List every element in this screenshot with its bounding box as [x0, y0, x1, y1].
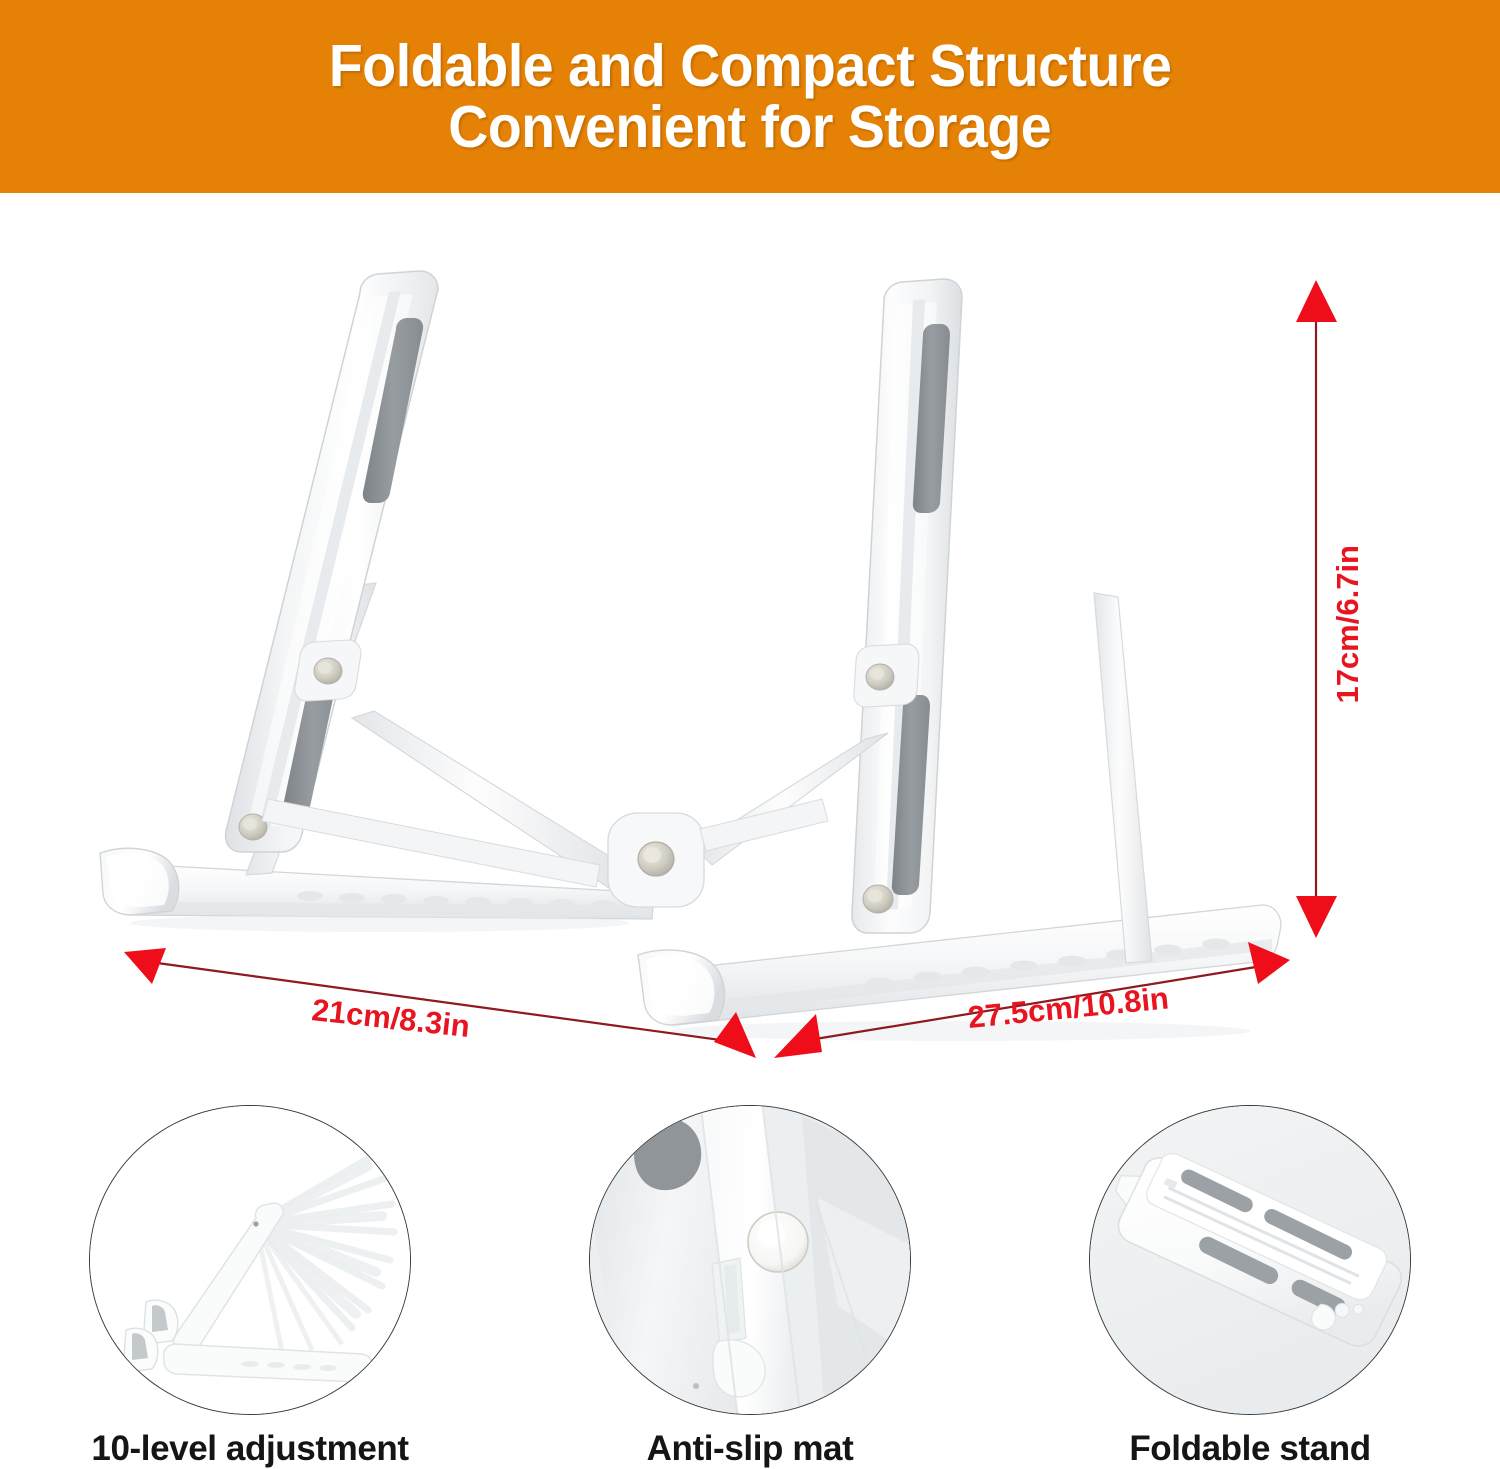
- feature-caption-antislip: Anti-slip mat: [647, 1429, 854, 1469]
- product-hero-image: [0, 193, 1500, 1093]
- banner-title-line-1: Foldable and Compact Structure: [329, 36, 1172, 97]
- right-front-lip: [638, 950, 725, 1025]
- folded-stand-icon: [1089, 1105, 1411, 1415]
- feature-item-foldable: Foldable stand: [1000, 1105, 1500, 1469]
- right-base-rail: [648, 905, 1281, 1025]
- left-front-lip: [100, 848, 179, 915]
- feature-item-antislip: Anti-slip mat: [500, 1105, 1000, 1469]
- feature-caption-foldable: Foldable stand: [1129, 1429, 1370, 1469]
- right-upper-hinge: [854, 644, 919, 707]
- right-lower-hinge: [863, 885, 893, 913]
- right-rear-leg: [1094, 593, 1152, 963]
- feature-caption-adjustment: 10-level adjustment: [91, 1429, 408, 1469]
- feature-row: 10-level adjustment: [0, 1105, 1500, 1469]
- dimension-label-height: 17cm/6.7in: [1330, 545, 1366, 704]
- laptop-stand-illustration: [0, 193, 1500, 1093]
- left-hinge: [295, 640, 361, 701]
- header-banner: Foldable and Compact Structure Convenien…: [0, 0, 1500, 193]
- hinge-pivot-icon: [589, 1105, 911, 1415]
- adjustment-fan-icon: [89, 1105, 411, 1415]
- banner-title-line-2: Convenient for Storage: [449, 97, 1052, 158]
- feature-item-adjustment: 10-level adjustment: [0, 1105, 500, 1469]
- left-support-panel: [226, 271, 438, 852]
- center-pivot-hub: [608, 813, 704, 907]
- right-support-panel: [852, 279, 962, 933]
